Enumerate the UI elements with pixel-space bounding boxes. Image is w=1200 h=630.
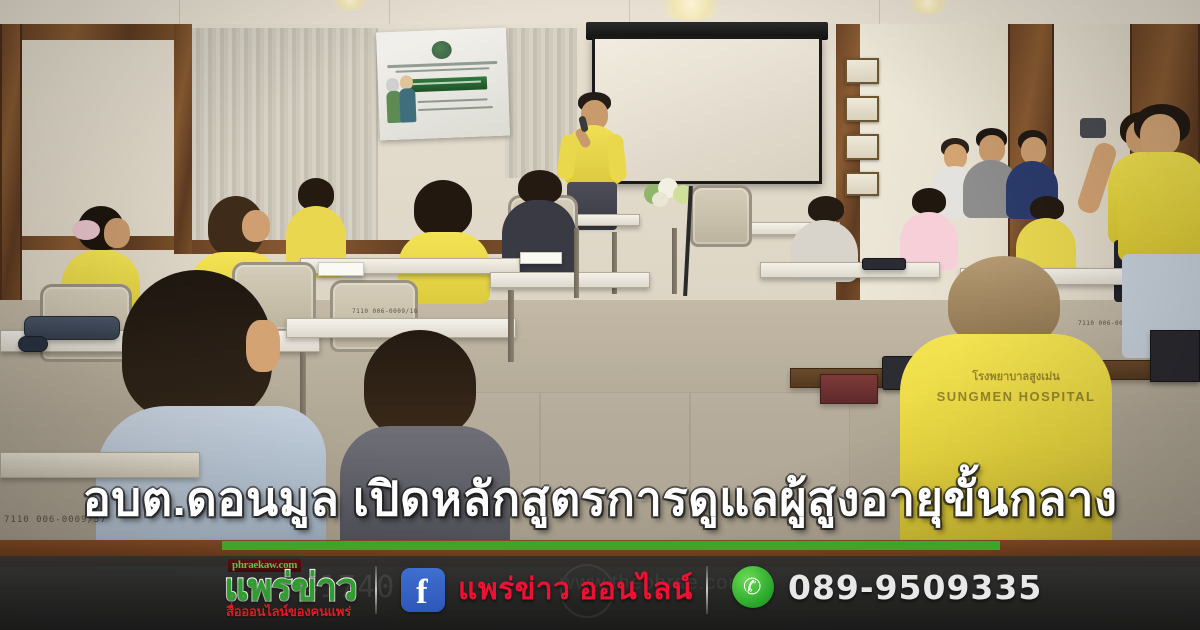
vignette <box>0 0 1200 630</box>
site-logo[interactable]: phraekaw.com แพร่ข่าว สื่อออนไลน์ของคนแพ… <box>224 558 392 620</box>
logo-tagline: สื่อออนไลน์ของคนแพร่ <box>226 605 351 618</box>
logo-name: แพร่ข่าว <box>224 569 357 607</box>
green-divider-rule <box>222 541 1000 550</box>
footer-divider <box>706 566 708 614</box>
phone-glyph: ✆ <box>743 576 763 597</box>
headline: อบต.ดอนมูล เปิดหลักสูตรการดูแลผู้สูงอายุ… <box>0 462 1200 534</box>
footer-divider <box>375 566 377 614</box>
facebook-glyph: f <box>416 574 428 609</box>
phone-contact[interactable]: ✆ 089-9509335 <box>732 566 1042 608</box>
phone-icon[interactable]: ✆ <box>732 566 774 608</box>
facebook-link[interactable]: f แพร่ข่าว ออนไลน์ <box>401 566 693 613</box>
facebook-label: แพร่ข่าว ออนไลน์ <box>458 566 693 613</box>
scene-photo: 7110 006-0009/16 โรงพยาบาลสูงเม่น SUNGME… <box>0 0 1200 630</box>
headline-text: อบต.ดอนมูล เปิดหลักสูตรการดูแลผู้สูงอายุ… <box>83 475 1118 522</box>
news-share-card: 7110 006-0009/16 โรงพยาบาลสูงเม่น SUNGME… <box>0 0 1200 630</box>
phone-number: 089-9509335 <box>788 568 1042 607</box>
facebook-icon[interactable]: f <box>401 568 445 612</box>
